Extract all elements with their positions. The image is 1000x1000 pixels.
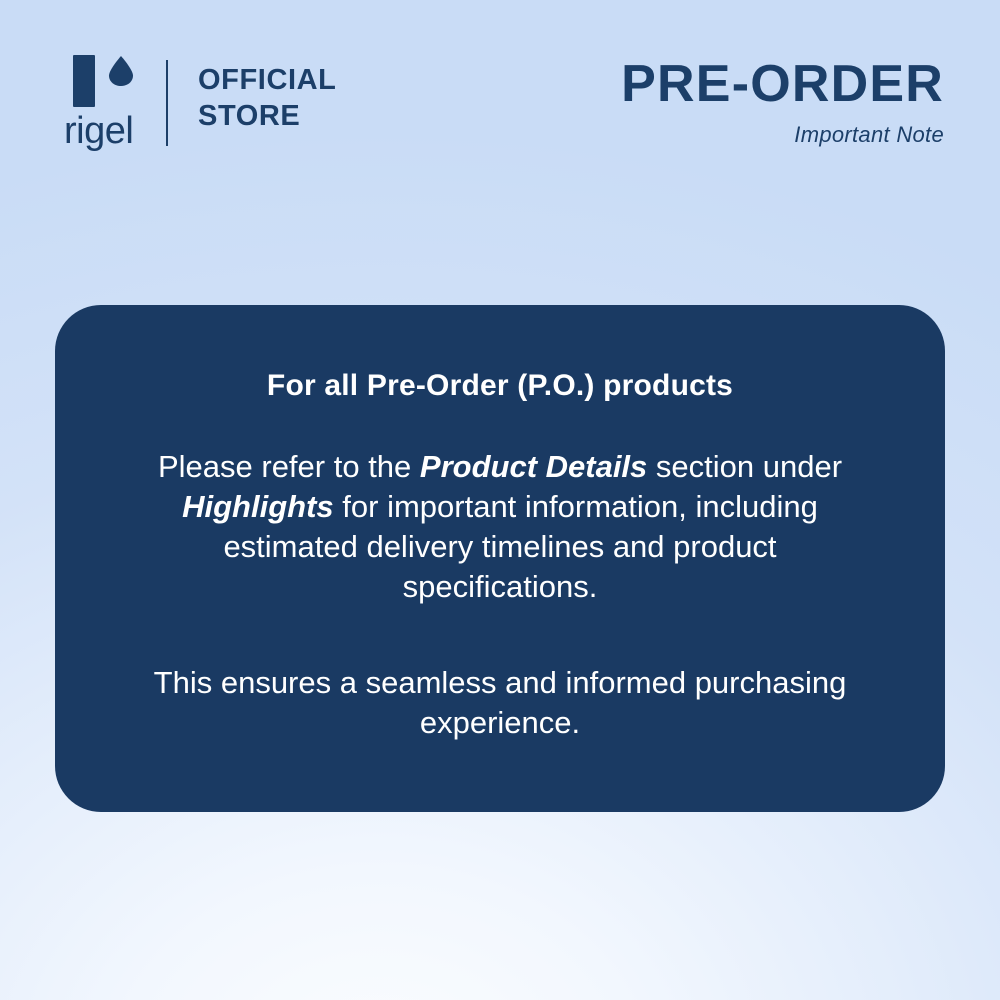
official-store-label: OFFICIAL STORE — [198, 50, 337, 134]
poster-header: rigel OFFICIAL STORE PRE-ORDER Important… — [0, 0, 1000, 180]
brand-wordmark: rigel — [64, 112, 158, 150]
brand-lockup: rigel OFFICIAL STORE — [62, 50, 337, 150]
emphasis-highlights: Highlights — [182, 489, 334, 524]
preorder-announcement-poster: rigel OFFICIAL STORE PRE-ORDER Important… — [0, 0, 1000, 1000]
droplet-icon — [108, 56, 134, 86]
page-title: PRE-ORDER — [621, 56, 944, 112]
brand-logo-group: rigel — [62, 50, 158, 150]
card-heading: For all Pre-Order (P.O.) products — [95, 367, 905, 405]
brand-divider — [166, 60, 168, 146]
emphasis-product-details: Product Details — [420, 449, 647, 484]
paragraph-1-part-1: Please refer to the — [158, 449, 420, 484]
logo-bar-icon — [73, 55, 95, 107]
important-note-card: For all Pre-Order (P.O.) products Please… — [55, 305, 945, 812]
header-title-group: PRE-ORDER Important Note — [621, 56, 944, 148]
page-subtitle: Important Note — [621, 122, 944, 148]
rigel-logo-mark — [73, 52, 153, 108]
card-paragraph-2: This ensures a seamless and informed pur… — [95, 663, 905, 743]
card-paragraph-1: Please refer to the Product Details sect… — [95, 447, 905, 607]
paragraph-1-part-2: section under — [647, 449, 842, 484]
